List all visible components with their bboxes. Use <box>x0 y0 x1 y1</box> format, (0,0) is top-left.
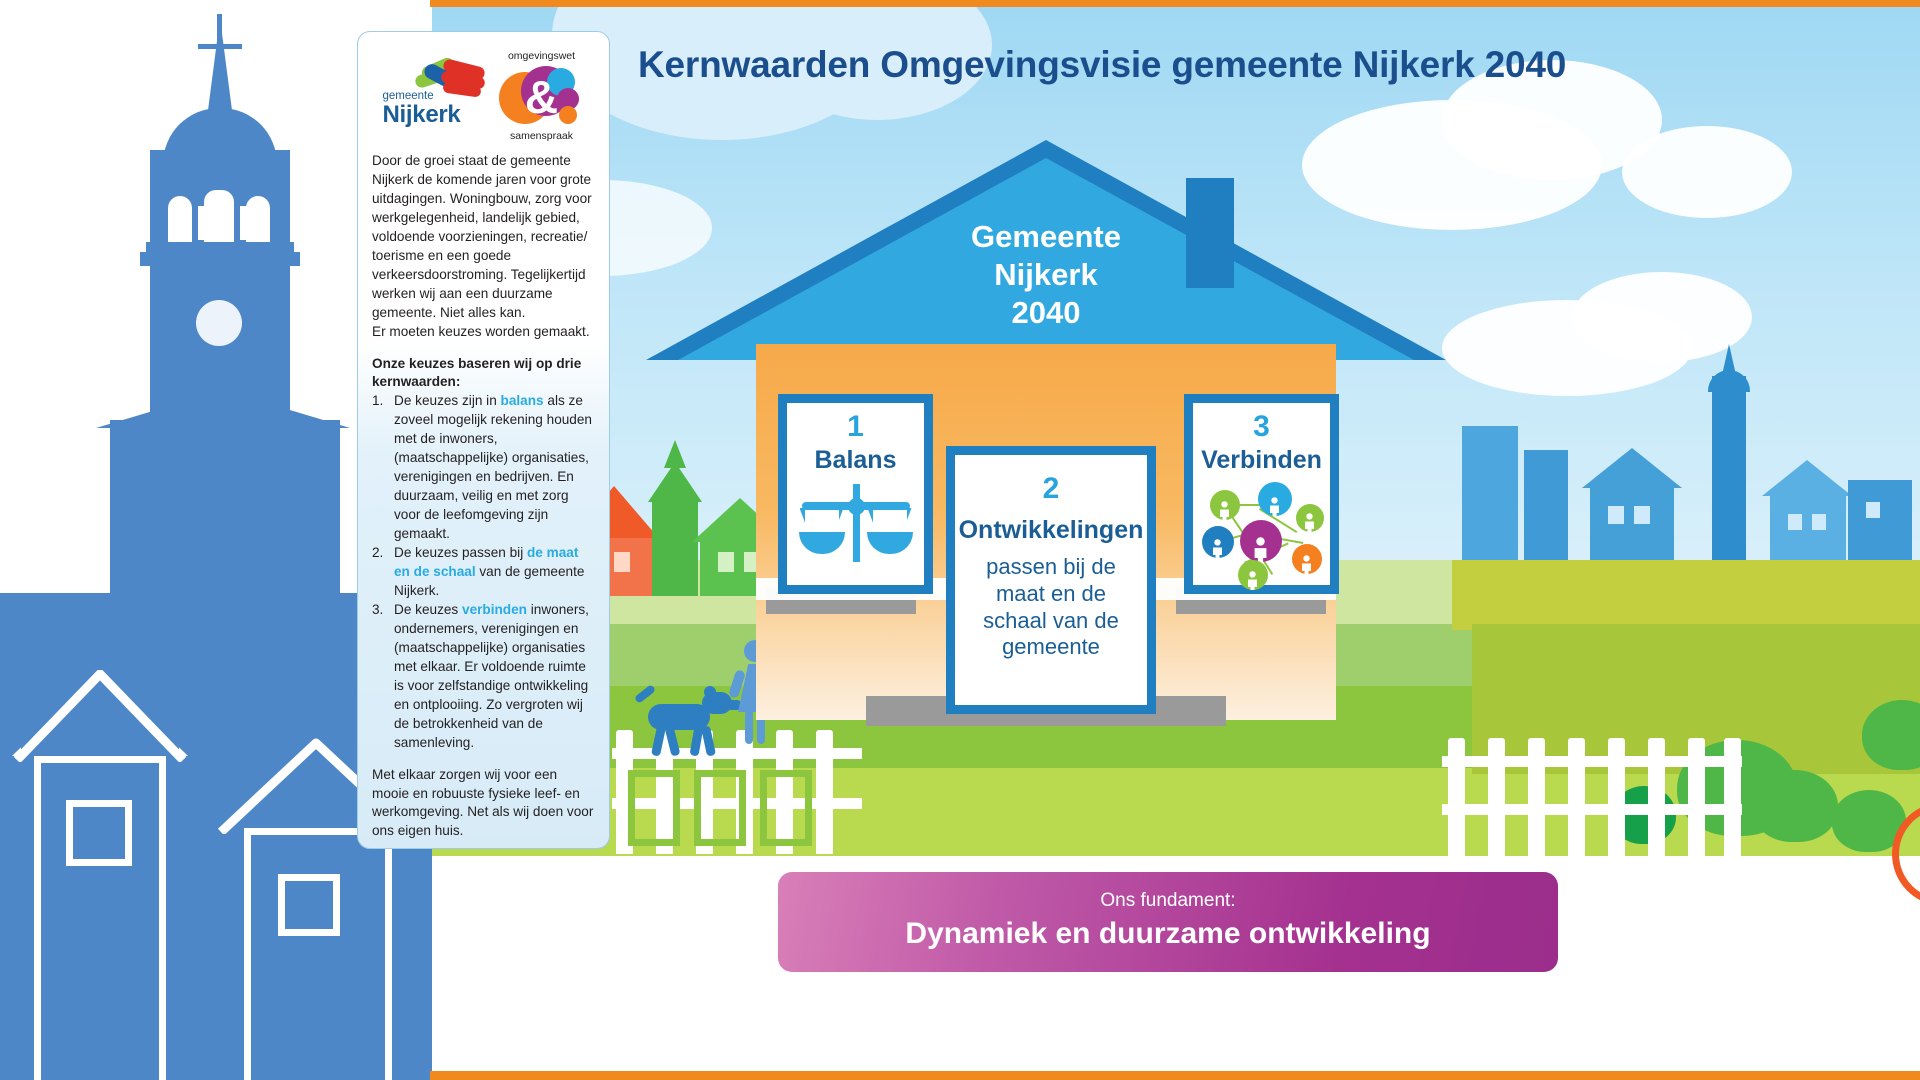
network-node-green <box>1210 490 1240 520</box>
bush-right-2 <box>1752 770 1838 842</box>
child-leg <box>745 710 753 744</box>
hedge-frame-3 <box>760 770 812 846</box>
page-title: Kernwaarden Omgevingsvisie gemeente Nijk… <box>638 44 1858 86</box>
spacer <box>372 753 595 766</box>
list-item: 3.De keuzes verbinden inwoners, ondernem… <box>372 601 595 753</box>
network-node-blue-light <box>1258 482 1292 516</box>
card-heading-text: Onze keuzes baseren wij op drie kernwaar… <box>372 356 581 390</box>
roof-line-1: Gemeente <box>866 218 1226 256</box>
church-dome-right <box>1708 370 1750 392</box>
church-pillar <box>262 206 269 240</box>
fence-picket <box>1568 738 1585 856</box>
church-pillar <box>198 206 205 240</box>
person-icon <box>1219 501 1230 520</box>
fence-right <box>1442 734 1742 856</box>
wall-blue-1 <box>1590 484 1674 560</box>
item-1-highlight: balans <box>501 393 544 408</box>
panel-3-title: Verbinden <box>1193 447 1330 475</box>
person-icon <box>1304 513 1315 532</box>
win-r3 <box>1788 514 1802 530</box>
people-network-icon <box>1196 478 1328 584</box>
church-deck <box>140 252 300 266</box>
field-right-upper <box>1452 560 1920 630</box>
network-node-purple <box>1240 520 1282 562</box>
fence-picket <box>1724 738 1741 856</box>
fundament-banner: Ons fundament: Dynamiek en duurzame ontw… <box>778 872 1558 972</box>
church-balustrade <box>146 242 294 252</box>
network-node-blue-dark <box>1202 526 1234 558</box>
item-3-pre: De keuzes <box>394 602 462 617</box>
fence-picket <box>1488 738 1505 856</box>
dog-leg <box>665 725 681 756</box>
wall-blue-3 <box>1848 480 1912 560</box>
roof-text: Gemeente Nijkerk 2040 <box>866 218 1226 331</box>
logo-row: gemeente Nijkerk omgevingswet & samenspr… <box>372 44 595 152</box>
samenspraak-label: samenspraak <box>497 130 587 142</box>
bike-wheel-rear <box>1892 802 1920 906</box>
church-tower-right <box>1712 376 1746 560</box>
roof-blue-1 <box>1582 448 1682 488</box>
church-clock-face <box>196 300 242 346</box>
roof-line-2: Nijkerk <box>866 256 1226 294</box>
panel-3-number: 3 <box>1193 411 1330 443</box>
cloud-3 <box>1622 126 1792 218</box>
fence-picket <box>1528 738 1545 856</box>
scale-pivot <box>848 498 865 515</box>
hedge-frame-1 <box>628 770 680 846</box>
left-house-1 <box>12 670 188 1080</box>
list-item: 2.De keuzes passen bij de maat en de sch… <box>372 544 595 601</box>
bottom-accent-rule <box>430 1071 1920 1080</box>
church-louvre-mid <box>204 190 234 244</box>
scale-bowl-right <box>867 532 913 554</box>
scale-bowl-left <box>799 532 845 554</box>
item-1-pre: De keuzes zijn in <box>394 393 501 408</box>
panel-2-number: 2 <box>955 473 1147 505</box>
win-r5 <box>1866 502 1880 518</box>
church-pillar <box>176 206 183 240</box>
top-accent-rule <box>430 0 1920 7</box>
left-house-2-body <box>244 828 392 1080</box>
person-icon <box>1253 537 1268 562</box>
item-2-pre: De keuzes passen bij <box>394 545 527 560</box>
kernwaarden-list: 1.De keuzes zijn in balans als ze zoveel… <box>372 392 595 752</box>
left-house-2-window <box>278 874 340 936</box>
dog-leg <box>701 725 716 756</box>
logo-nijkerk-label: Nijkerk <box>383 101 461 129</box>
card-intro: Door de groei staat de gemeente Nijkerk … <box>372 152 595 323</box>
list-item: 1.De keuzes zijn in balans als ze zoveel… <box>372 392 595 544</box>
win-2 <box>614 552 630 572</box>
nijkerk-wing-logo: gemeente Nijkerk <box>381 60 485 132</box>
church-spire <box>207 18 233 118</box>
panel-balans[interactable]: 1 Balans <box>778 394 933 594</box>
panel-1-number: 1 <box>787 411 924 443</box>
fundament-lead: Ons fundament: <box>778 890 1558 912</box>
dog-tail <box>634 684 656 704</box>
fence-picket <box>816 730 833 854</box>
item-1-post: als ze zoveel mogelijk rekening houden m… <box>394 393 592 541</box>
bicycle-illustration <box>1892 752 1920 932</box>
win-r1 <box>1608 506 1624 524</box>
card-closing: Met elkaar zorgen wij voor een mooie en … <box>372 766 595 842</box>
balance-scale-icon <box>796 480 916 564</box>
scale-post <box>853 484 860 562</box>
win-r4 <box>1812 514 1826 530</box>
info-card: gemeente Nijkerk omgevingswet & samenspr… <box>357 31 610 849</box>
item-2-number: 2. <box>372 544 383 563</box>
highrise-1 <box>1462 426 1518 560</box>
fence-picket <box>1448 738 1465 856</box>
omg-ampersand: & <box>515 70 569 124</box>
tower-green-1 <box>664 440 686 468</box>
wall-green-1 <box>652 498 698 596</box>
fence-picket <box>1688 738 1705 856</box>
highrise-2 <box>1524 450 1568 560</box>
spacer <box>372 342 595 355</box>
person-icon <box>1212 539 1223 558</box>
fence-picket <box>1608 738 1625 856</box>
item-3-post: inwoners, ondernemers, verenigingen en (… <box>394 602 589 750</box>
panel-1-title: Balans <box>787 447 924 475</box>
card-intro-last: Er moeten keuzes worden gemaakt. <box>372 323 595 342</box>
item-3-highlight: verbinden <box>462 602 527 617</box>
wall-blue-2 <box>1770 492 1846 560</box>
panel-ontwikkelingen[interactable]: 2 Ontwikkelingen passen bij de maat en d… <box>946 446 1156 714</box>
network-node-orange <box>1292 544 1322 574</box>
panel-2-title: Ontwikkelingen <box>955 517 1147 545</box>
left-house-1-window <box>66 800 132 866</box>
network-node-green-3 <box>1238 560 1268 590</box>
fence-picket <box>1648 738 1665 856</box>
dog-leg <box>651 725 666 756</box>
roof-blue-2 <box>1762 460 1852 496</box>
church-pillar <box>240 206 247 240</box>
infographic-canvas: Gemeente Nijkerk 2040 1 Balans <box>0 0 1920 1080</box>
left-house-1-roof-outline <box>12 670 188 762</box>
dog-ear <box>704 686 716 698</box>
item-3-number: 3. <box>372 601 383 620</box>
item-1-number: 1. <box>372 392 383 411</box>
roof-green-1 <box>648 462 702 502</box>
panel-verbinden[interactable]: 3 Verbinden <box>1184 394 1339 594</box>
omgevingswet-samenspraak-logo: omgevingswet & samenspraak <box>495 50 587 142</box>
person-icon <box>1247 571 1258 590</box>
win-3 <box>718 552 734 572</box>
house-graphic: Gemeente Nijkerk 2040 1 Balans <box>756 140 1336 720</box>
person-icon <box>1301 555 1312 574</box>
panel-2-subtitle: passen bij de maat en de schaal van de g… <box>955 554 1147 661</box>
roof-line-3: 2040 <box>866 294 1226 332</box>
card-heading: Onze keuzes baseren wij op drie kernwaar… <box>372 355 595 393</box>
fundament-main: Dynamiek en duurzame ontwikkeling <box>778 917 1558 951</box>
network-node-green-2 <box>1296 504 1324 532</box>
skyline-right <box>1432 330 1920 560</box>
person-icon <box>1269 497 1280 516</box>
omgevingswet-label: omgevingswet <box>497 50 587 62</box>
win-r2 <box>1634 506 1650 524</box>
hedge-frame-2 <box>694 770 746 846</box>
